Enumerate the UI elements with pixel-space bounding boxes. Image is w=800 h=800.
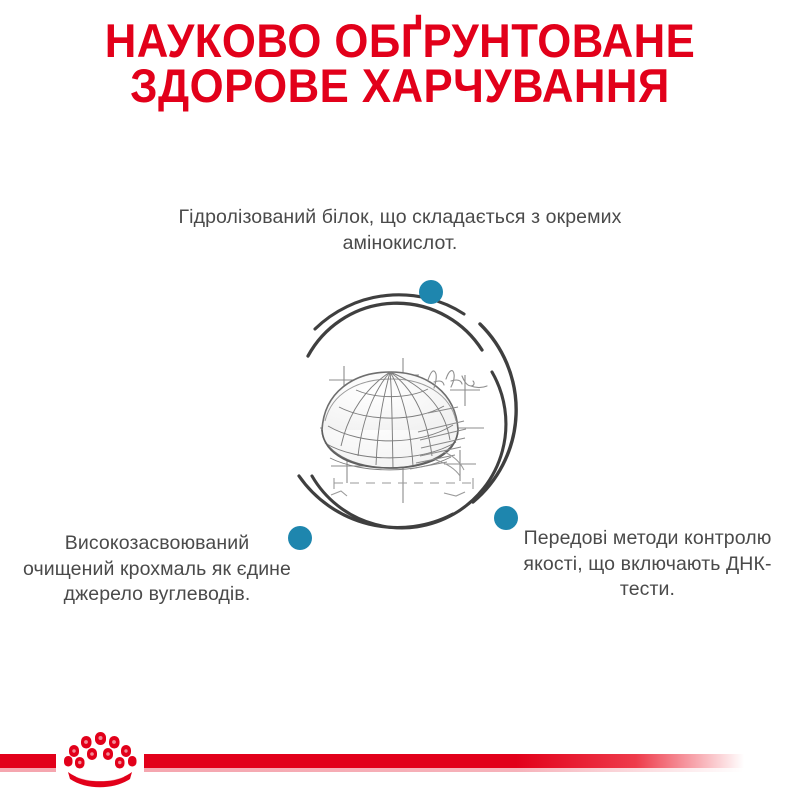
brand-footer — [0, 710, 800, 800]
caption-starch: Високозасвоюваний очищений крохмаль як є… — [22, 531, 292, 608]
caption-quality-control: Передові методи контролю якості, що вклю… — [520, 526, 775, 603]
poster-canvas: НАУКОВО ОБҐРУНТОВАНЕ ЗДОРОВЕ ХАРЧУВАННЯ … — [0, 0, 800, 800]
diagram-dot-left[interactable] — [288, 526, 312, 550]
dimension-ticks — [331, 478, 473, 496]
brand-bar-right — [144, 754, 744, 768]
caption-protein: Гідролізований білок, що складається з о… — [150, 205, 650, 256]
royal-canin-crown-icon — [56, 728, 144, 790]
page-title-line-2: ЗДОРОВЕ ХАРЧУВАННЯ — [28, 63, 772, 108]
kibble-sketch — [322, 372, 466, 476]
diagram-dot-top[interactable] — [419, 280, 443, 304]
brand-bar-left — [0, 754, 56, 768]
page-title-line-1: НАУКОВО ОБҐРУНТОВАНЕ — [28, 18, 772, 63]
page-title: НАУКОВО ОБҐРУНТОВАНЕ ЗДОРОВЕ ХАРЧУВАННЯ — [28, 18, 772, 108]
diagram-dot-right[interactable] — [494, 506, 518, 530]
signature-scribble — [428, 371, 487, 388]
